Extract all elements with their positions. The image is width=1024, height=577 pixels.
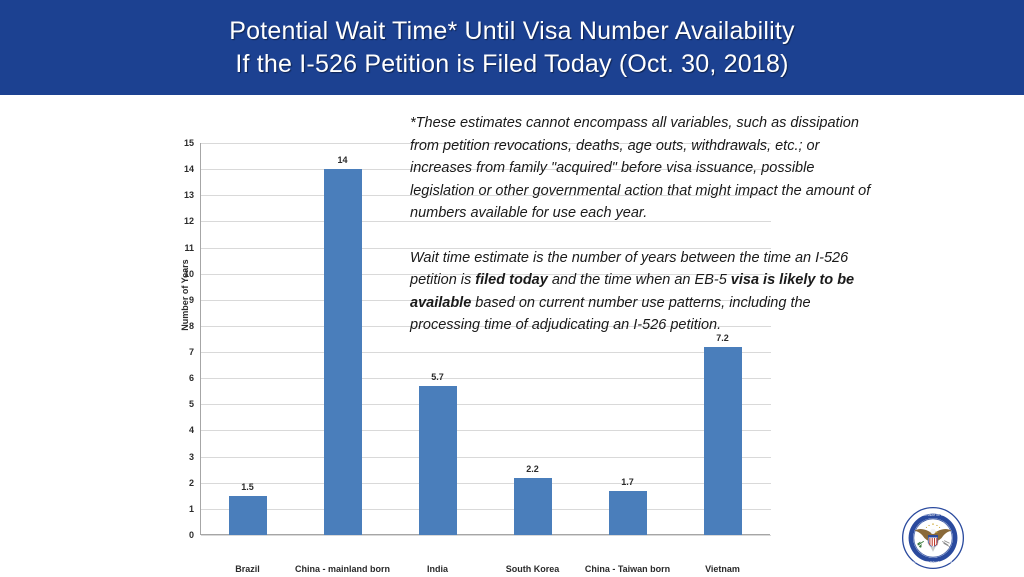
bar-slot: 1.5 bbox=[200, 143, 295, 535]
y-axis-tick: 9 bbox=[160, 295, 194, 305]
y-axis-tick: 14 bbox=[160, 164, 194, 174]
y-axis-tick: 15 bbox=[160, 138, 194, 148]
footnote-p2-bold-1: filed today bbox=[475, 272, 548, 288]
x-axis-category-label: Vietnam bbox=[675, 563, 770, 575]
bar-south-korea[interactable] bbox=[514, 478, 552, 535]
paragraph-spacer bbox=[410, 225, 875, 247]
x-axis-category-label: India bbox=[390, 563, 485, 575]
us-department-of-state-seal: DEPARTMENT OF STATE UNITED STATES OF AME… bbox=[900, 505, 966, 571]
bar-india[interactable] bbox=[419, 386, 457, 535]
bar-brazil[interactable] bbox=[229, 496, 267, 535]
svg-text:DEPARTMENT OF STATE: DEPARTMENT OF STATE bbox=[917, 513, 950, 517]
footnote-paragraph-2: Wait time estimate is the number of year… bbox=[410, 247, 875, 337]
x-axis-category-label: Brazil bbox=[200, 563, 295, 575]
y-axis-tick: 8 bbox=[160, 321, 194, 331]
bar-value-label: 1.5 bbox=[241, 482, 254, 492]
y-axis-tick: 1 bbox=[160, 504, 194, 514]
page-title-line-1: Potential Wait Time* Until Visa Number A… bbox=[229, 15, 795, 48]
y-axis-tick: 5 bbox=[160, 399, 194, 409]
x-axis-category-label: China - Taiwan born bbox=[580, 563, 675, 575]
x-axis-category-label: China - mainland born bbox=[295, 563, 390, 575]
bar-value-label: 5.7 bbox=[431, 372, 444, 382]
y-axis-tick-labels: 1514131211109876543210 bbox=[150, 143, 194, 535]
y-axis-tick: 6 bbox=[160, 373, 194, 383]
bar-value-label: 14 bbox=[337, 155, 347, 165]
gridline bbox=[201, 535, 771, 536]
y-axis-tick: 2 bbox=[160, 478, 194, 488]
y-axis-tick: 11 bbox=[160, 243, 194, 253]
header-band: Potential Wait Time* Until Visa Number A… bbox=[0, 0, 1024, 95]
y-axis-tick: 3 bbox=[160, 452, 194, 462]
bar-china-mainland-born[interactable] bbox=[324, 169, 362, 535]
bar-value-label: 2.2 bbox=[526, 464, 539, 474]
x-axis-category-label: South Korea bbox=[485, 563, 580, 575]
bar-china-taiwan-born[interactable] bbox=[609, 491, 647, 535]
y-axis-tick: 12 bbox=[160, 216, 194, 226]
bar-vietnam[interactable] bbox=[704, 347, 742, 535]
y-axis-tick: 4 bbox=[160, 425, 194, 435]
y-axis-tick: 10 bbox=[160, 269, 194, 279]
y-axis-tick: 7 bbox=[160, 347, 194, 357]
footnote-p2-text-2: and the time when an EB-5 bbox=[548, 272, 731, 288]
bar-slot: 14 bbox=[295, 143, 390, 535]
y-axis-tick: 0 bbox=[160, 530, 194, 540]
bar-value-label: 1.7 bbox=[621, 477, 634, 487]
page-title-line-2: If the I-526 Petition is Filed Today (Oc… bbox=[235, 48, 788, 81]
svg-text:UNITED STATES OF AMERICA: UNITED STATES OF AMERICA bbox=[913, 560, 952, 564]
footnote-paragraph-1: *These estimates cannot encompass all va… bbox=[410, 112, 875, 225]
footnote-block: *These estimates cannot encompass all va… bbox=[410, 112, 875, 337]
footnote-p2-text-3: based on current number use patterns, in… bbox=[410, 295, 811, 334]
y-axis-tick: 13 bbox=[160, 190, 194, 200]
